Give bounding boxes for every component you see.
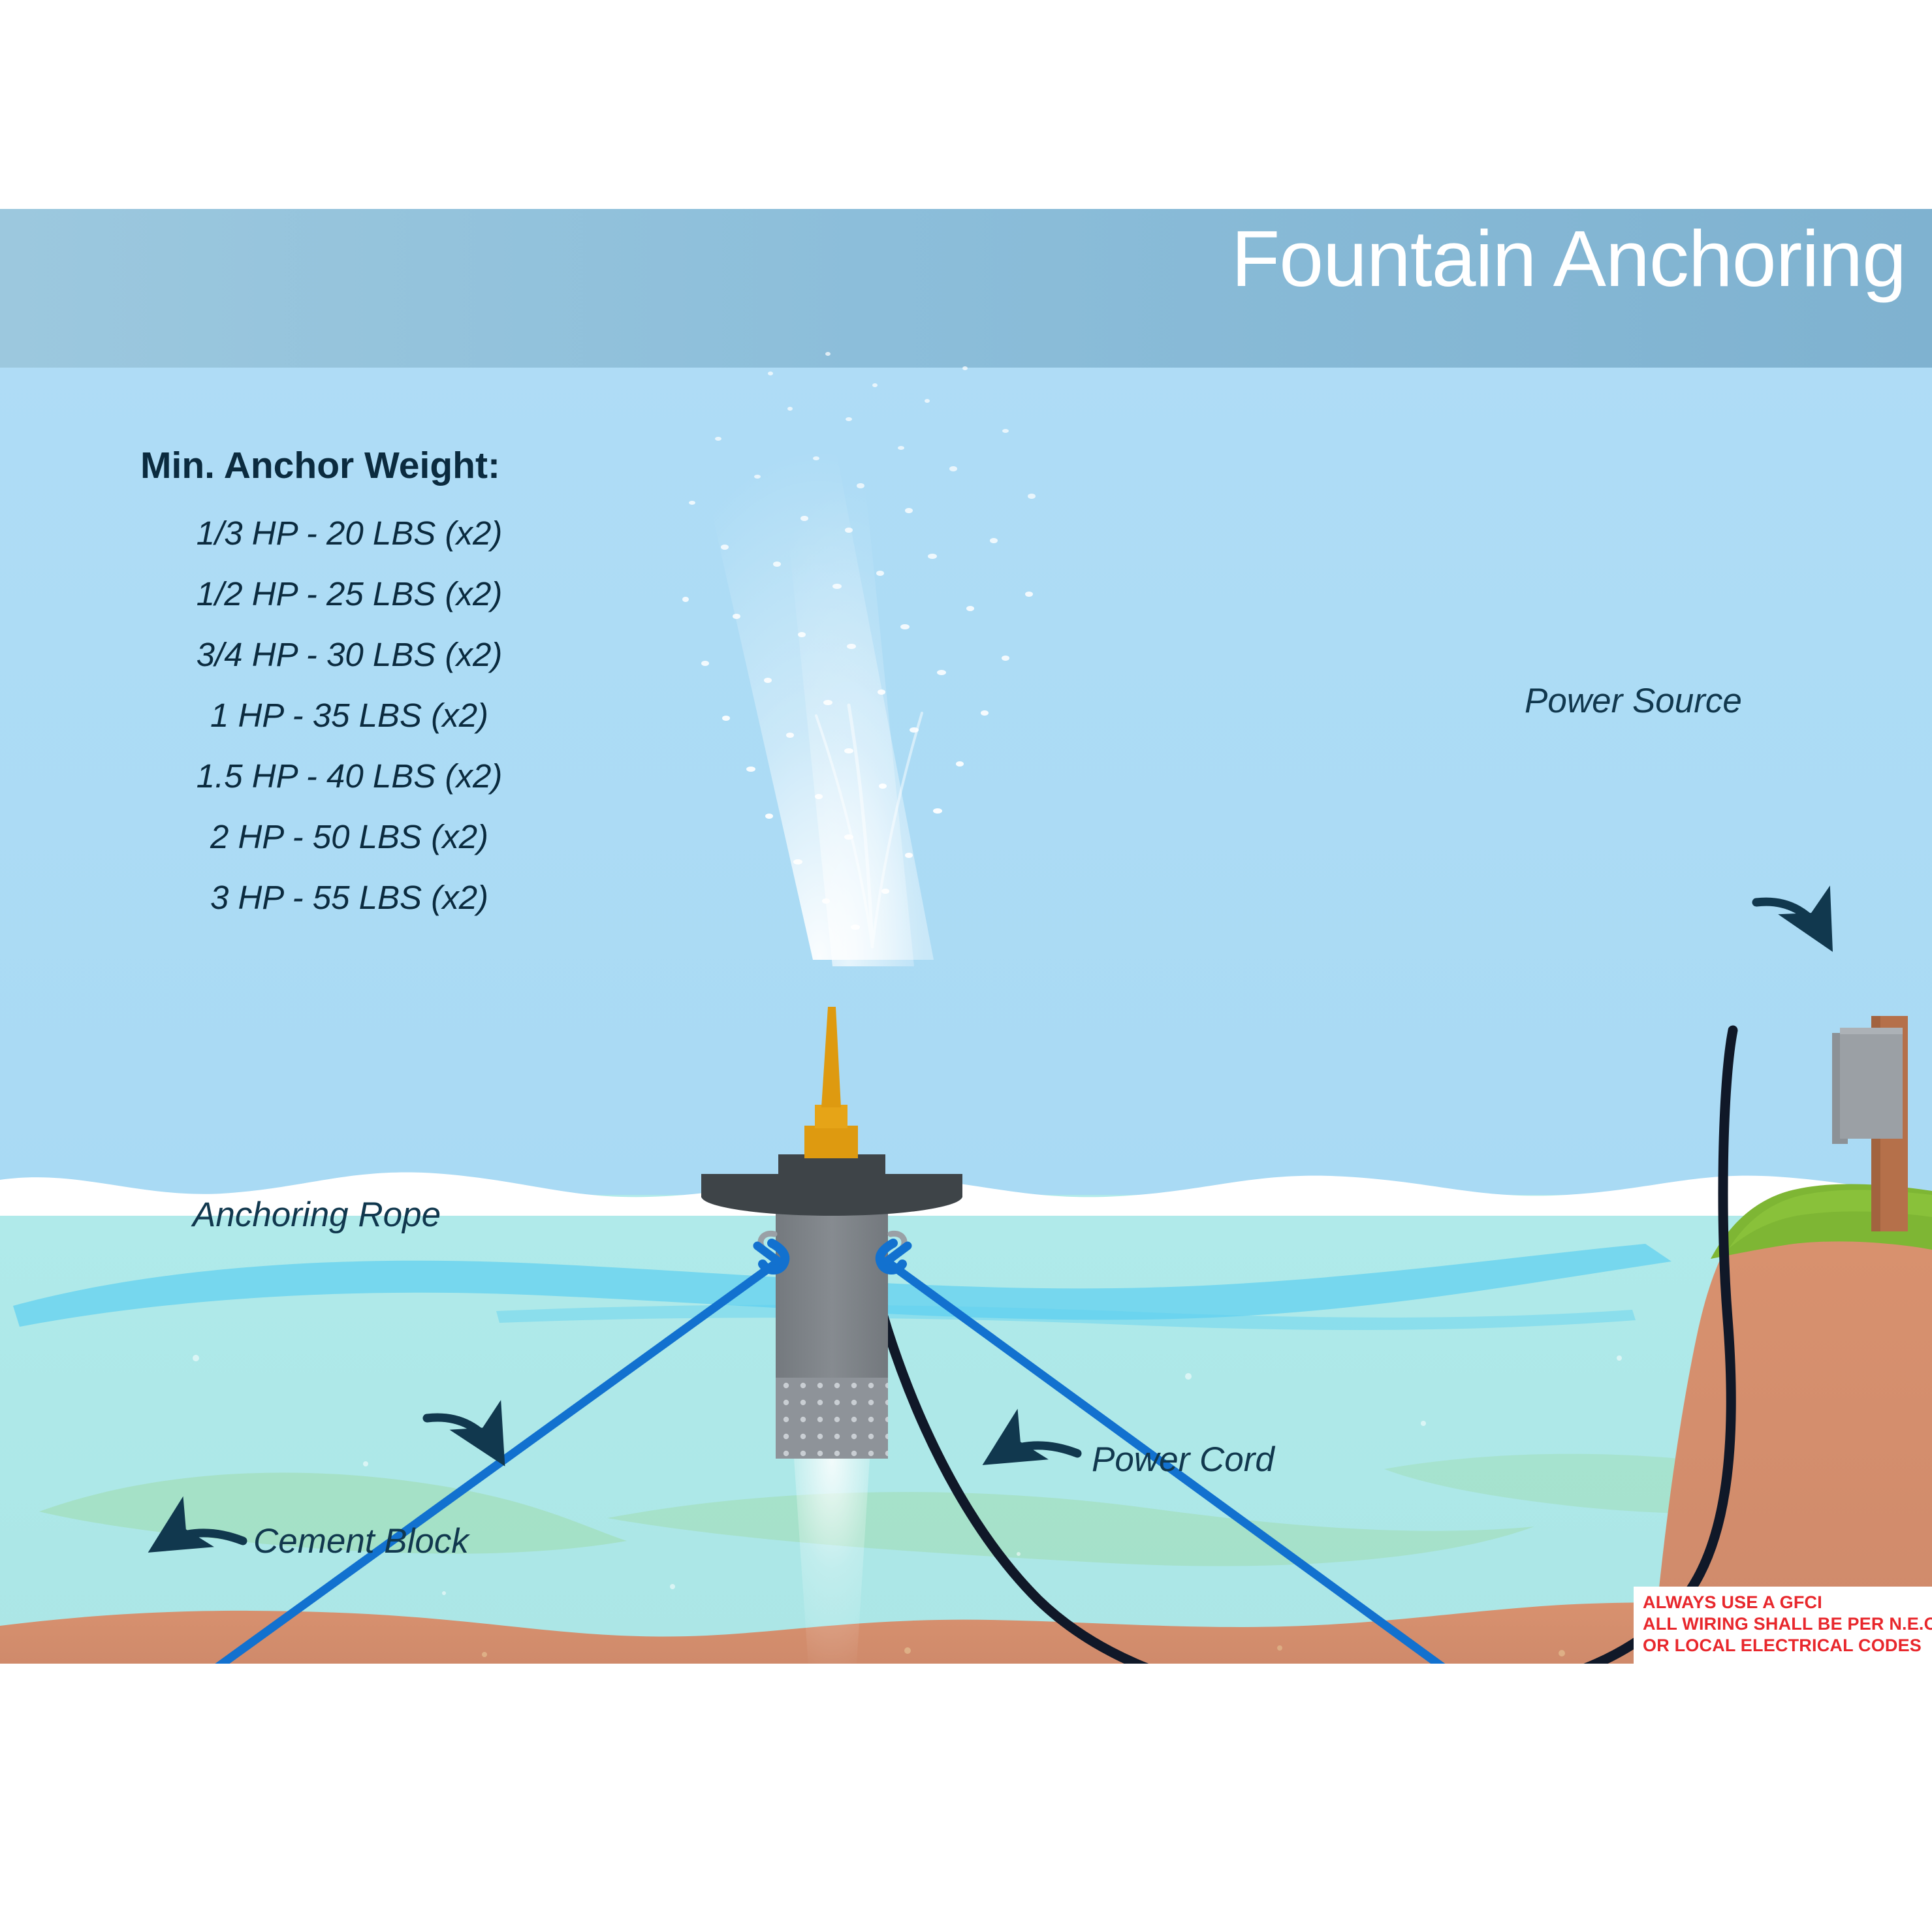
anchor-weight-row: 3/4 HP - 30 LBS (x2) (140, 635, 558, 674)
anchor-weight-row: 2 HP - 50 LBS (x2) (140, 817, 558, 856)
gfci-warning-line-1: ALWAYS USE A GFCI (1643, 1592, 1932, 1613)
power-cord-label: Power Cord (1092, 1440, 1275, 1480)
anchor-weight-row: 1/3 HP - 20 LBS (x2) (140, 514, 558, 552)
gfci-warning-line-3: OR LOCAL ELECTRICAL CODES (1643, 1635, 1932, 1656)
callout-arrow-layer (0, 209, 1932, 1664)
anchor-weight-row: 1 HP - 35 LBS (x2) (140, 696, 558, 735)
illustration-canvas (0, 209, 1932, 1664)
gfci-warning-line-2: ALL WIRING SHALL BE PER N.E.C., (1643, 1613, 1932, 1635)
power-source-label: Power Source (1525, 681, 1742, 721)
cement-block-arrow-icon (161, 1533, 243, 1545)
anchor-weight-heading: Min. Anchor Weight: (140, 444, 500, 487)
anchor-weight-row: 3 HP - 55 LBS (x2) (140, 878, 558, 917)
anchoring-rope-arrow-icon (427, 1417, 498, 1453)
anchor-weight-row: 1/2 HP - 25 LBS (x2) (140, 575, 558, 613)
cement-block-label: Cement Block (253, 1521, 469, 1561)
anchor-weight-row: 1.5 HP - 40 LBS (x2) (140, 757, 558, 795)
power-cord-arrow-icon (995, 1446, 1077, 1457)
fountain-anchoring-diagram: Fountain Anchoring Min. Anchor Weight: 1… (0, 0, 1932, 1932)
gfci-warning-label: ALWAYS USE A GFCI ALL WIRING SHALL BE PE… (1634, 1587, 1932, 1664)
page-title: Fountain Anchoring (1231, 219, 1906, 298)
anchoring-rope-label: Anchoring Rope (193, 1195, 441, 1235)
power-source-arrow-icon (1756, 902, 1826, 939)
